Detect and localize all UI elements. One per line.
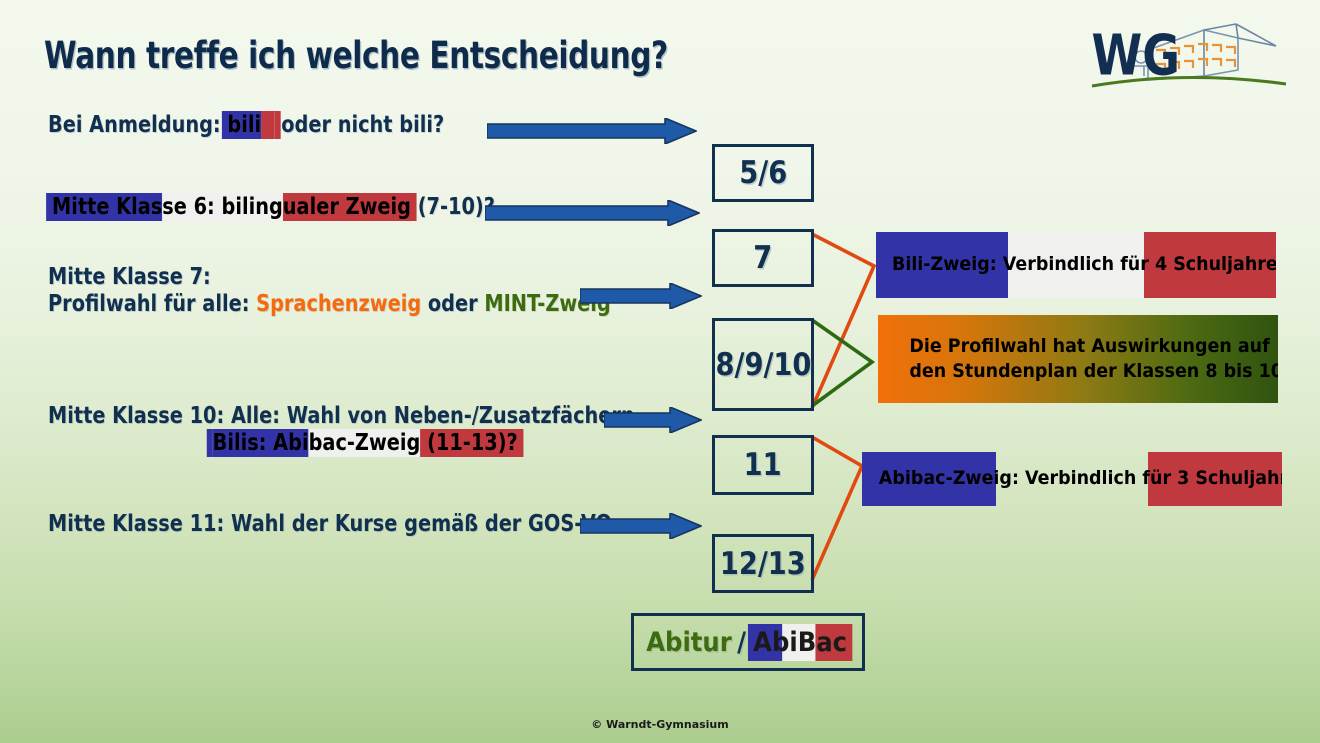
grade-box-8-9-10: 8/9/10 [712,318,814,411]
stmt3-sprachenzweig: Sprachenzweig [256,291,421,317]
page-title: Wann treffe ich welche Entscheidung? [44,34,668,77]
abitur-abibac-inner: Abitur / AbiBac [647,627,850,658]
arrow-to-11 [604,407,702,438]
arrow-to-8-9-10 [580,283,702,314]
info-box-bili-zweig: Bili-Zweig: Verbindlich für 4 Schuljahre… [876,232,1276,298]
stmt4-line2: Bilis: Abibac-Zweig (11-13)? [48,430,635,457]
stmt2-hl-right: ualer Zweig [283,193,411,221]
info-box-bili-text: Bili-Zweig: Verbindlich für 4 Schuljahre… [892,252,1260,277]
stmt4-hl-mid: bac-Zweig [309,429,421,457]
statement-klasse6: Mitte Klasse 6: bilingualer Zweig (7-10)… [52,194,495,221]
stmt3-line2-a: Profilwahl für alle: [48,291,256,317]
abibac-label: AbiBac [752,627,849,658]
arrow-to-7 [485,200,700,231]
statement-anmeldung: Bei Anmeldung: bili oder nicht bili? [48,112,444,139]
slide-canvas: Wann treffe ich welche Entscheidung? [0,0,1320,743]
statement-klasse7: Mitte Klasse 7: Profilwahl für alle: Spr… [48,264,611,318]
grade-box-12-13-label: 12/13 [720,546,806,582]
arrow-to-12-13 [580,513,702,544]
grade-box-7: 7 [712,229,814,287]
grade-box-5-6-label: 5/6 [739,155,787,191]
stmt5-line1: Mitte Klasse 11: Wahl der Kurse gemäß de… [48,511,612,538]
stmt1-highlight-bili: bili [227,111,261,139]
stmt4-hl-left: Bilis: Abi [213,429,309,457]
grade-box-11-label: 11 [744,447,782,483]
grade-box-12-13: 12/13 [712,534,814,593]
info-box-profilwahl: Die Profilwahl hat Auswirkungen auf den … [878,315,1278,403]
info-box-profilwahl-line1: Die Profilwahl hat Auswirkungen auf [909,334,1277,359]
stmt3-line1: Mitte Klasse 7: [48,264,611,291]
info-box-abibac-zweig: Abibac-Zweig: Verbindlich für 3 Schuljah… [862,452,1282,506]
stmt4-hl-right: (11-13)? [420,429,517,457]
stmt2-hl-left: Mitte Klas [52,193,162,221]
abibac-connector [812,437,862,580]
abitur-label: Abitur [647,627,732,658]
stmt1-highlight-red-tail [261,111,274,139]
stmt2-suffix: (7-10)? [411,194,495,220]
stmt4-line1: Mitte Klasse 10: Alle: Wahl von Neben-/Z… [48,403,635,430]
grade-box-11: 11 [712,435,814,495]
info-box-abibac-text: Abibac-Zweig: Verbindlich für 3 Schuljah… [879,466,1265,491]
bili-connector [812,234,874,408]
stmt2-hl-mid: se 6: biling [162,193,283,221]
abitur-abibac-box: Abitur / AbiBac [631,613,865,671]
statement-klasse11: Mitte Klasse 11: Wahl der Kurse gemäß de… [48,511,612,538]
arrow-to-5-6 [487,118,697,149]
info-box-profilwahl-text: Die Profilwahl hat Auswirkungen auf den … [895,334,1278,384]
abibac-flag-wrap: AbiBac [752,627,849,658]
profilwahl-connector [812,320,872,406]
grade-box-5-6: 5/6 [712,144,814,202]
logo-svg: WG [1086,14,1296,94]
statement-klasse10: Mitte Klasse 10: Alle: Wahl von Neben-/Z… [48,403,635,457]
stmt1-prefix: Bei Anmeldung: [48,112,227,138]
stmt3-line2-b: oder [421,291,484,317]
warndt-gymnasium-logo: WG [1086,14,1296,94]
info-box-profilwahl-line2: den Stundenplan der Klassen 8 bis 10. [909,359,1277,384]
stmt3-line2: Profilwahl für alle: Sprachenzweig oder … [48,291,611,318]
grade-box-7-label: 7 [753,240,772,276]
grade-box-8-9-10-label: 8/9/10 [715,347,811,383]
stmt1-suffix: oder nicht bili? [275,112,445,138]
footer-copyright: © Warndt-Gymnasium [0,718,1320,731]
